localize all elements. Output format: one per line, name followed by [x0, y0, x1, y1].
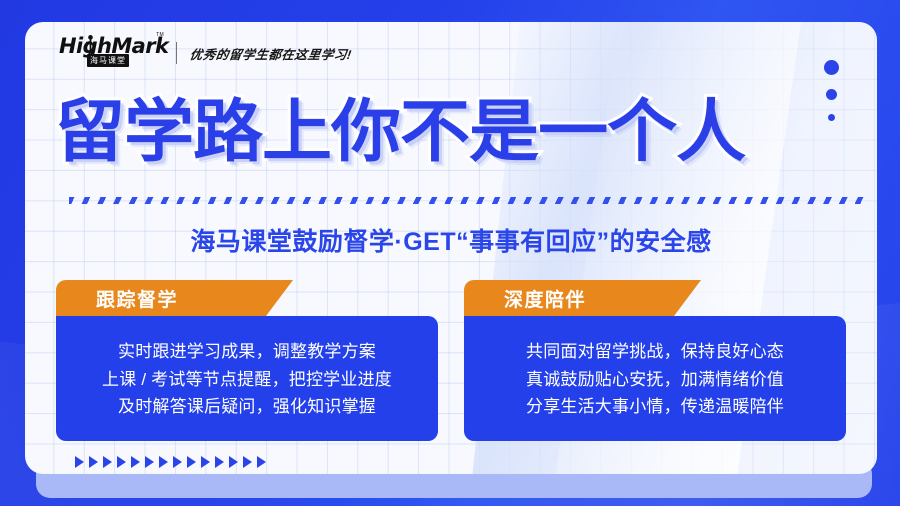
arrow-right-icon	[103, 456, 112, 468]
header-divider	[176, 42, 177, 64]
arrow-right-icon	[229, 456, 238, 468]
arrow-right-icon	[117, 456, 126, 468]
arrow-right-icon	[201, 456, 210, 468]
feature-body: 共同面对留学挑战，保持良好心态 真诚鼓励贴心安抚，加满情绪价值 分享生活大事小情…	[464, 316, 846, 441]
logo-chinese-name: 海马课堂	[87, 54, 129, 67]
feature-card: 深度陪伴 共同面对留学挑战，保持良好心态 真诚鼓励贴心安抚，加满情绪价值 分享生…	[464, 280, 846, 441]
arrow-right-icon	[75, 456, 84, 468]
arrow-right-icon	[187, 456, 196, 468]
poster-canvas: HighMark TM 海马课堂 优秀的留学生都在这里学习! 留学路上你不是一个…	[0, 0, 900, 506]
brand-tagline: 优秀的留学生都在这里学习!	[189, 44, 354, 63]
feature-tab-label: 深度陪伴	[504, 285, 586, 312]
arrow-right-icon	[215, 456, 224, 468]
feature-tab-label: 跟踪督学	[96, 285, 178, 312]
feature-line: 共同面对留学挑战，保持良好心态	[464, 338, 846, 366]
feature-line: 真诚鼓励贴心安抚，加满情绪价值	[464, 366, 846, 394]
arrow-right-icon	[257, 456, 266, 468]
trademark-mark: TM	[156, 32, 164, 38]
decorative-arrow-row	[75, 456, 266, 468]
feature-card: 跟踪督学 实时跟进学习成果，调整教学方案 上课 / 考试等节点提醒，把控学业进度…	[56, 280, 438, 441]
feature-body: 实时跟进学习成果，调整教学方案 上课 / 考试等节点提醒，把控学业进度 及时解答…	[56, 316, 438, 441]
arrow-right-icon	[159, 456, 168, 468]
feature-tab: 跟踪督学	[56, 280, 266, 316]
arrow-right-icon	[89, 456, 98, 468]
arrow-right-icon	[173, 456, 182, 468]
feature-line: 及时解答课后疑问，强化知识掌握	[56, 393, 438, 421]
feature-line: 分享生活大事小情，传递温暖陪伴	[464, 393, 846, 421]
arrow-right-icon	[145, 456, 154, 468]
logo: HighMark TM 海马课堂	[59, 36, 163, 70]
feature-tab: 深度陪伴	[464, 280, 674, 316]
feature-line: 上课 / 考试等节点提醒，把控学业进度	[56, 366, 438, 394]
dot-large-icon	[824, 60, 839, 75]
arrow-right-icon	[243, 456, 252, 468]
main-card: HighMark TM 海马课堂 优秀的留学生都在这里学习! 留学路上你不是一个…	[25, 22, 877, 474]
feature-card-list: 跟踪督学 实时跟进学习成果，调整教学方案 上课 / 考试等节点提醒，把控学业进度…	[56, 280, 846, 441]
feature-line: 实时跟进学习成果，调整教学方案	[56, 338, 438, 366]
brand-header: HighMark TM 海马课堂 优秀的留学生都在这里学习!	[59, 36, 352, 70]
page-title: 留学路上你不是一个人	[55, 98, 877, 166]
page-subtitle: 海马课堂鼓励督学·GET“事事有回应”的安全感	[25, 222, 877, 258]
arrow-right-icon	[131, 456, 140, 468]
dashed-divider	[69, 194, 864, 206]
